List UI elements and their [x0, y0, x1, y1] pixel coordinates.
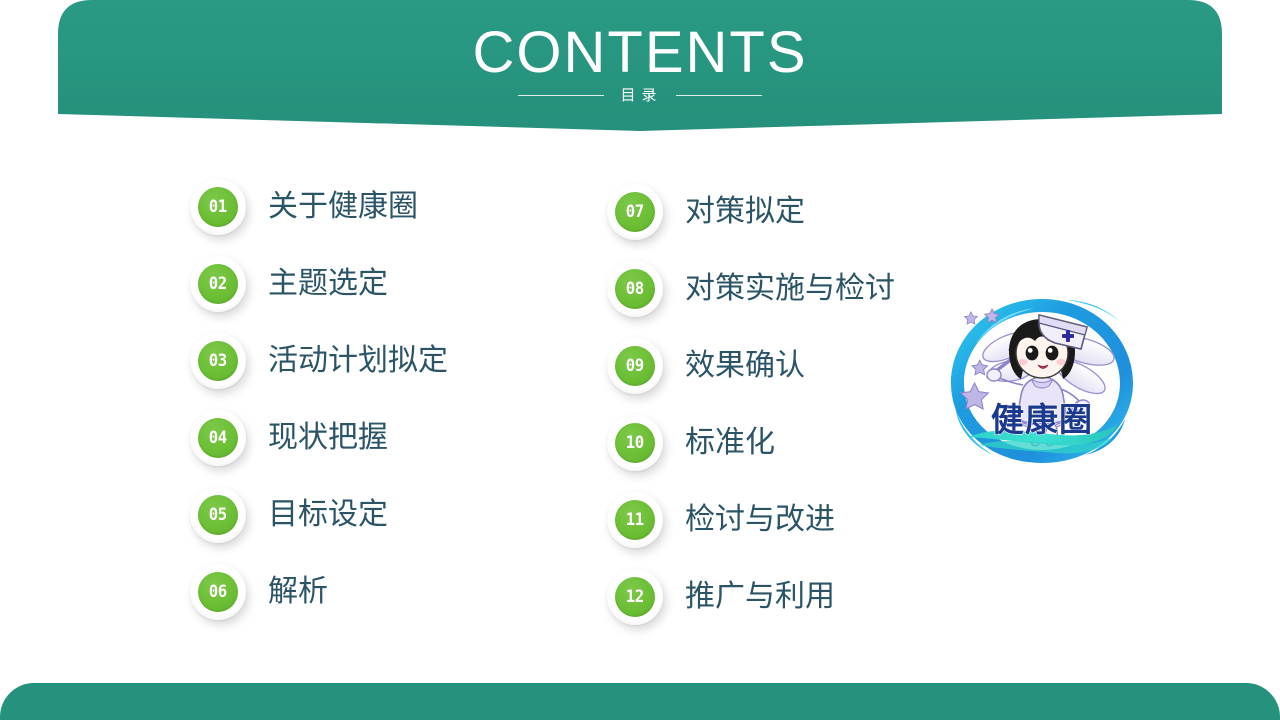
- toc-item-11[interactable]: 11 检讨与改进: [607, 491, 835, 549]
- toc-badge-01: 01: [190, 179, 246, 235]
- toc-item-09[interactable]: 09 效果确认: [607, 337, 805, 395]
- toc-badge-inner-04: 04: [198, 418, 238, 458]
- toc-label-07: 对策拟定: [685, 197, 805, 227]
- toc-number-11: 11: [626, 512, 644, 529]
- toc-badge-inner-01: 01: [198, 187, 238, 227]
- toc-label-05: 目标设定: [268, 500, 388, 530]
- toc-number-03: 03: [209, 353, 227, 370]
- toc-number-07: 07: [626, 204, 644, 221]
- page-subtitle: 目录: [617, 88, 662, 103]
- toc-label-10: 标准化: [685, 428, 775, 458]
- logo-artwork: 健康圈: [935, 285, 1150, 475]
- toc-badge-08: 08: [607, 261, 663, 317]
- toc-number-01: 01: [209, 199, 227, 216]
- toc-item-08[interactable]: 08 对策实施与检讨: [607, 260, 895, 318]
- header-subtitle-group: 目录: [58, 88, 1222, 103]
- page-title: CONTENTS: [58, 24, 1222, 82]
- toc-badge-inner-06: 06: [198, 572, 238, 612]
- toc-badge-inner-09: 09: [615, 346, 655, 386]
- toc-badge-11: 11: [607, 492, 663, 548]
- toc-number-02: 02: [209, 276, 227, 293]
- toc-badge-05: 05: [190, 487, 246, 543]
- toc-label-09: 效果确认: [685, 351, 805, 381]
- toc-item-02[interactable]: 02 主题选定: [190, 255, 388, 313]
- toc-label-08: 对策实施与检讨: [685, 274, 895, 304]
- toc-item-12[interactable]: 12 推广与利用: [607, 568, 835, 626]
- toc-label-03: 活动计划拟定: [268, 346, 448, 376]
- toc-item-07[interactable]: 07 对策拟定: [607, 183, 805, 241]
- toc-badge-04: 04: [190, 410, 246, 466]
- toc-item-05[interactable]: 05 目标设定: [190, 486, 388, 544]
- toc-item-01[interactable]: 01 关于健康圈: [190, 178, 418, 236]
- jiankangquan-logo: 健康圈: [935, 285, 1150, 475]
- toc-badge-inner-02: 02: [198, 264, 238, 304]
- toc-badge-inner-10: 10: [615, 423, 655, 463]
- toc-badge-06: 06: [190, 564, 246, 620]
- toc-number-05: 05: [209, 507, 227, 524]
- toc-badge-inner-11: 11: [615, 500, 655, 540]
- subtitle-rule-right: [676, 95, 762, 96]
- logo-wordmark: 健康圈: [991, 400, 1093, 439]
- toc-badge-inner-12: 12: [615, 577, 655, 617]
- toc-badge-10: 10: [607, 415, 663, 471]
- toc-number-09: 09: [626, 358, 644, 375]
- toc-item-03[interactable]: 03 活动计划拟定: [190, 332, 448, 390]
- toc-badge-inner-05: 05: [198, 495, 238, 535]
- toc-label-04: 现状把握: [268, 423, 388, 453]
- header-band: CONTENTS 目录: [58, 0, 1222, 132]
- toc-number-04: 04: [209, 430, 227, 447]
- footer-band: [0, 683, 1280, 720]
- toc-number-06: 06: [209, 584, 227, 601]
- toc-badge-02: 02: [190, 256, 246, 312]
- toc-label-12: 推广与利用: [685, 582, 835, 612]
- toc-item-04[interactable]: 04 现状把握: [190, 409, 388, 467]
- toc-label-06: 解析: [268, 577, 328, 607]
- toc-label-11: 检讨与改进: [685, 505, 835, 535]
- toc-badge-09: 09: [607, 338, 663, 394]
- toc-item-06[interactable]: 06 解析: [190, 563, 328, 621]
- toc-badge-inner-03: 03: [198, 341, 238, 381]
- toc-number-10: 10: [626, 435, 644, 452]
- toc-label-02: 主题选定: [268, 269, 388, 299]
- toc-number-08: 08: [626, 281, 644, 298]
- subtitle-rule-left: [518, 95, 604, 96]
- toc-number-12: 12: [626, 589, 644, 606]
- toc-badge-inner-07: 07: [615, 192, 655, 232]
- toc-badge-07: 07: [607, 184, 663, 240]
- toc-badge-12: 12: [607, 569, 663, 625]
- toc-badge-inner-08: 08: [615, 269, 655, 309]
- toc-item-10[interactable]: 10 标准化: [607, 414, 775, 472]
- slide-root: CONTENTS 目录 01 关于健康圈 02: [0, 0, 1280, 720]
- toc-badge-03: 03: [190, 333, 246, 389]
- toc-label-01: 关于健康圈: [268, 192, 418, 222]
